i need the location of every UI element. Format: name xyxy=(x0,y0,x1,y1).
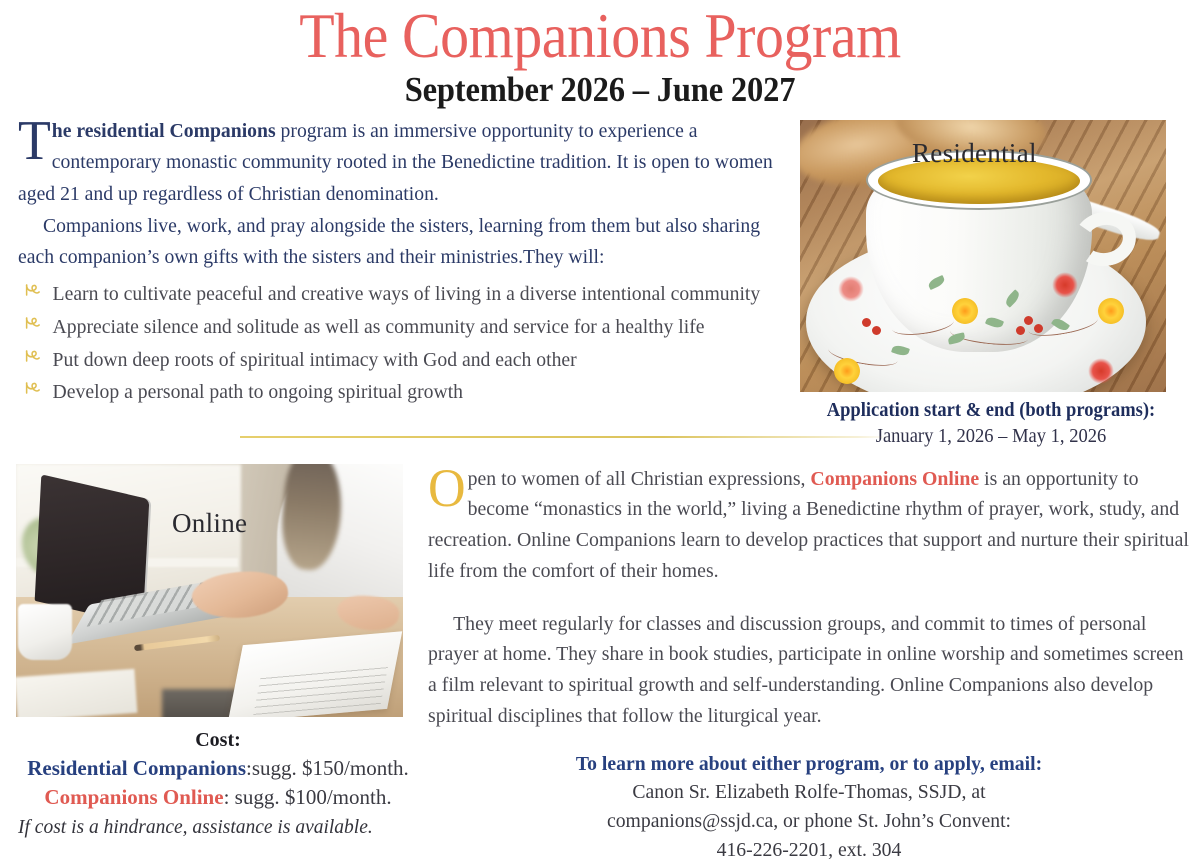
cost-residential-value: :sugg. $150/month. xyxy=(246,756,409,780)
cost-residential-row: Residential Companions:sugg. $150/month. xyxy=(16,754,420,783)
page-title: The Companions Program xyxy=(48,4,1152,70)
list-item: Learn to cultivate peaceful and creative… xyxy=(18,279,787,310)
photo-loose-paper xyxy=(16,668,137,716)
list-item-label: Develop a personal path to ongoing spiri… xyxy=(53,381,463,403)
photo-mug xyxy=(18,604,72,660)
leaf-flourish-icon xyxy=(24,379,43,399)
online-photo: Online xyxy=(16,464,403,717)
cost-block: Cost: Residential Companions:sugg. $150/… xyxy=(16,727,420,841)
online-photo-column: Online Cost: Residential Companions:sugg… xyxy=(0,464,420,841)
contact-block: To learn more about either program, or t… xyxy=(428,750,1190,866)
residential-section: The residential Companions program is an… xyxy=(0,108,1200,449)
cost-title: Cost: xyxy=(16,727,420,754)
cost-online-value: : sugg. $100/month. xyxy=(224,785,392,809)
residential-photo-column: Residential Application start & end (bot… xyxy=(800,116,1182,449)
list-item: Appreciate silence and solitude as well … xyxy=(18,312,787,343)
contact-email-phone: companions@ssjd.ca, or phone St. John’s … xyxy=(443,807,1175,836)
dropcap-o: O xyxy=(428,464,468,510)
online-brand-name: Companions Online xyxy=(810,468,979,490)
page-header: The Companions Program September 2026 – … xyxy=(0,0,1200,108)
contact-person: Canon Sr. Elizabeth Rolfe-Thomas, SSJD, … xyxy=(443,778,1175,807)
section-divider xyxy=(240,436,890,438)
application-caption: Application start & end (both programs):… xyxy=(810,399,1173,449)
online-photo-label: Online xyxy=(172,508,247,539)
list-item-label: Learn to cultivate peaceful and creative… xyxy=(53,283,761,305)
residential-paragraph-1: The residential Companions program is an… xyxy=(18,116,787,209)
cost-assistance-note: If cost is a hindrance, assistance is av… xyxy=(16,814,420,841)
residential-paragraph-2: Companions live, work, and pray alongsid… xyxy=(18,211,787,273)
leaf-flourish-icon xyxy=(24,314,43,334)
contact-phone-number: 416-226-2201, ext. 304 xyxy=(443,836,1175,865)
dropcap-t: T xyxy=(18,116,52,164)
online-text-column: Open to women of all Christian expressio… xyxy=(420,464,1200,866)
leaf-flourish-icon xyxy=(24,281,43,301)
list-item-label: Appreciate silence and solitude as well … xyxy=(53,316,705,338)
residential-text-column: The residential Companions program is an… xyxy=(0,116,800,410)
cost-online-row: Companions Online: sugg. $100/month. xyxy=(16,783,420,812)
residential-photo-label: Residential xyxy=(912,138,1037,169)
page-subtitle: September 2026 – June 2027 xyxy=(42,72,1158,109)
online-paragraph-2: They meet regularly for classes and disc… xyxy=(428,609,1189,732)
list-item: Develop a personal path to ongoing spiri… xyxy=(18,377,787,408)
online-section: Online Cost: Residential Companions:sugg… xyxy=(0,450,1200,866)
list-item: Put down deep roots of spiritual intimac… xyxy=(18,345,787,376)
residential-bullet-list: Learn to cultivate peaceful and creative… xyxy=(18,279,788,408)
residential-lead-bold: he residential Companions xyxy=(52,120,276,142)
leaf-flourish-icon xyxy=(24,347,43,367)
application-heading: Application start & end (both programs): xyxy=(810,399,1173,424)
list-item-label: Put down deep roots of spiritual intimac… xyxy=(53,349,577,371)
online-paragraph-1-pre: pen to women of all Christian expression… xyxy=(468,468,811,490)
online-paragraph-1: Open to women of all Christian expressio… xyxy=(428,464,1189,587)
contact-heading: To learn more about either program, or t… xyxy=(443,750,1175,779)
cost-residential-label: Residential Companions xyxy=(27,756,246,780)
residential-photo: Residential xyxy=(800,120,1166,392)
cost-online-label: Companions Online xyxy=(44,785,223,809)
